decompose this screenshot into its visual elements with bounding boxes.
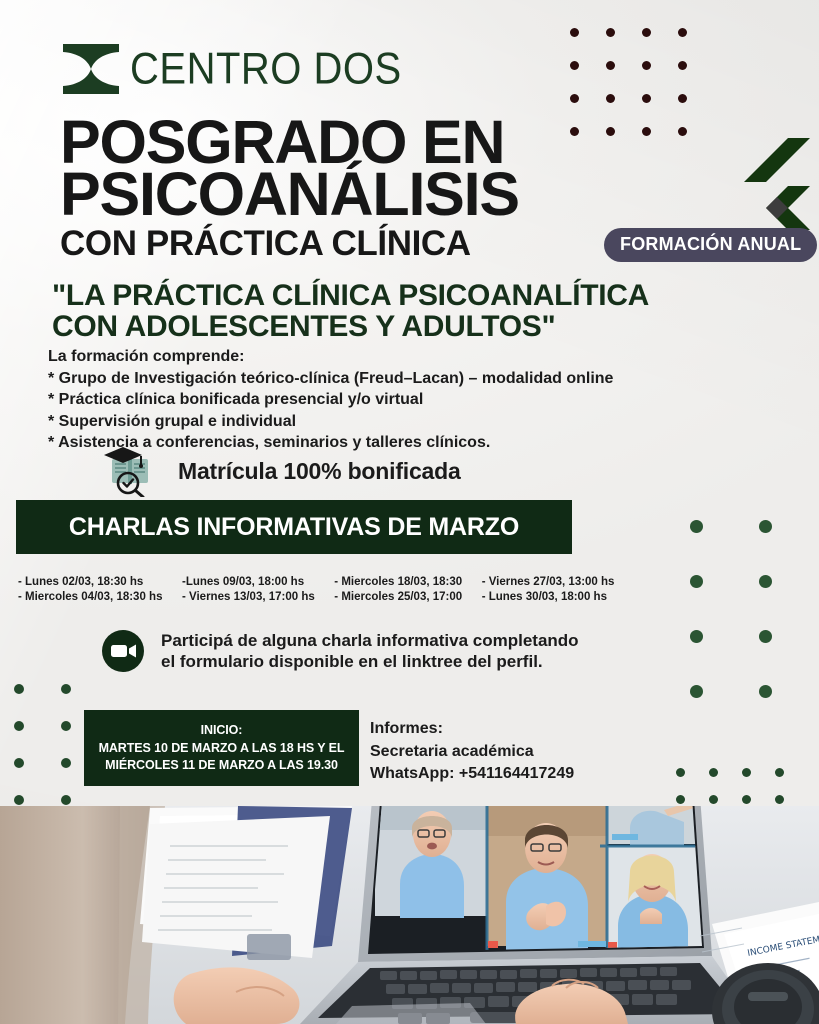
headline-line-2: PSICOANÁLISIS xyxy=(60,168,580,220)
list-item: * Práctica clínica bonificada presencial… xyxy=(48,389,748,410)
dot xyxy=(61,758,71,768)
informes-line-1: Informes: xyxy=(370,718,574,741)
graduation-cap-book-search-icon xyxy=(100,445,162,497)
schedule-slot: - Lunes 30/03, 18:00 hs xyxy=(482,591,618,603)
headline-line-3: CON PRÁCTICA CLÍNICA xyxy=(60,226,580,261)
inicio-box: INICIO: MARTES 10 DE MARZO A LAS 18 HS Y… xyxy=(84,710,359,786)
dot xyxy=(759,685,772,698)
participa-row: Participá de alguna charla informativa c… xyxy=(102,630,579,673)
dot xyxy=(678,61,687,70)
maroon-dot-grid-decoration xyxy=(570,28,687,136)
inicio-line-1: INICIO: xyxy=(201,722,243,739)
includes-lead: La formación comprende: xyxy=(48,348,748,366)
dot xyxy=(642,28,651,37)
schedule-slot: - Viernes 13/03, 17:00 hs xyxy=(182,591,318,603)
flyer-canvas: CENTRO DOS POSGRADO EN PSICOANÁLISIS CON… xyxy=(0,0,819,1024)
participa-line-2: el formulario disponible en el linktree … xyxy=(161,651,579,672)
green-dot-grid-right-decoration xyxy=(690,520,819,698)
dot xyxy=(570,28,579,37)
informes-line-2: Secretaria académica xyxy=(370,741,574,764)
dot xyxy=(678,94,687,103)
dot xyxy=(606,61,615,70)
dot xyxy=(61,795,71,805)
dot xyxy=(690,630,703,643)
hero-photo-videocall: INCOME STATEMENT xyxy=(0,806,819,1024)
list-item: * Grupo de Investigación teórico-clínica… xyxy=(48,368,748,389)
centro-dos-hourglass-icon xyxy=(60,42,122,96)
schedule-slot: - Miercoles 25/03, 17:00 xyxy=(334,591,465,603)
dot xyxy=(14,758,24,768)
schedule-slot: - Viernes 27/03, 13:00 hs xyxy=(482,576,618,588)
dot xyxy=(606,127,615,136)
dot xyxy=(642,94,651,103)
page-title: POSGRADO EN PSICOANÁLISIS CON PRÁCTICA C… xyxy=(60,116,580,261)
green-dot-grid-bottom-decoration xyxy=(676,768,784,804)
dot xyxy=(642,127,651,136)
inicio-line-3: MIÉRCOLES 11 DE MARZO A LAS 19.30 xyxy=(105,757,338,774)
matricula-label: Matrícula 100% bonificada xyxy=(178,458,461,485)
dot xyxy=(775,768,784,777)
includes-list: * Grupo de Investigación teórico-clínica… xyxy=(48,368,748,453)
dot xyxy=(709,768,718,777)
dot xyxy=(606,94,615,103)
participa-line-1: Participá de alguna charla informativa c… xyxy=(161,630,579,651)
program-subtitle-quote: "LA PRÁCTICA CLÍNICA PSICOANALÍTICA CON … xyxy=(52,280,772,342)
dot xyxy=(14,721,24,731)
program-includes-section: La formación comprende: * Grupo de Inves… xyxy=(48,348,748,453)
dot xyxy=(709,795,718,804)
dot xyxy=(678,28,687,37)
quote-line-1: "LA PRÁCTICA CLÍNICA PSICOANALÍTICA xyxy=(52,280,772,311)
dot xyxy=(606,28,615,37)
dot xyxy=(676,795,685,804)
brand-name: CENTRO DOS xyxy=(130,47,402,92)
dot xyxy=(759,520,772,533)
videocall-illustration: INCOME STATEMENT xyxy=(0,806,819,1024)
inicio-line-2: MARTES 10 DE MARZO A LAS 18 HS Y EL xyxy=(99,740,345,757)
dot xyxy=(775,795,784,804)
status-badge-formacion-anual: FORMACIÓN ANUAL xyxy=(604,228,817,262)
schedule-slot: -Lunes 09/03, 18:00 hs xyxy=(182,576,318,588)
dot xyxy=(61,721,71,731)
dot xyxy=(61,684,71,694)
dot xyxy=(690,575,703,588)
dot xyxy=(570,94,579,103)
quote-line-2: CON ADOLESCENTES Y ADULTOS" xyxy=(52,311,772,342)
matricula-row: Matrícula 100% bonificada xyxy=(100,445,461,497)
schedule-slot: - Lunes 02/03, 18:30 hs xyxy=(18,576,166,588)
charlas-banner: CHARLAS INFORMATIVAS DE MARZO xyxy=(16,500,572,554)
dot xyxy=(742,795,751,804)
dot xyxy=(742,768,751,777)
informes-whatsapp: WhatsApp: +541164417249 xyxy=(370,763,574,786)
charlas-banner-title: CHARLAS INFORMATIVAS DE MARZO xyxy=(69,513,519,542)
dot xyxy=(678,127,687,136)
schedule-slot: - Miercoles 04/03, 18:30 hs xyxy=(18,591,166,603)
dot xyxy=(14,795,24,805)
dot xyxy=(690,685,703,698)
dot xyxy=(570,61,579,70)
flutter-chevron-icon xyxy=(744,138,810,230)
dot xyxy=(690,520,703,533)
dot xyxy=(642,61,651,70)
dot xyxy=(759,630,772,643)
participa-text: Participá de alguna charla informativa c… xyxy=(161,630,579,673)
dot xyxy=(14,684,24,694)
green-dot-grid-left-decoration xyxy=(14,684,71,805)
schedule-grid: - Lunes 02/03, 18:30 hs -Lunes 09/03, 18… xyxy=(18,576,618,603)
brand-logo: CENTRO DOS xyxy=(60,42,402,96)
informes-block: Informes: Secretaria académica WhatsApp:… xyxy=(370,718,574,786)
list-item: * Supervisión grupal e individual xyxy=(48,411,748,432)
dot xyxy=(759,575,772,588)
video-camera-circle-icon xyxy=(102,630,144,672)
dot xyxy=(676,768,685,777)
schedule-slot: - Miercoles 18/03, 18:30 xyxy=(334,576,465,588)
